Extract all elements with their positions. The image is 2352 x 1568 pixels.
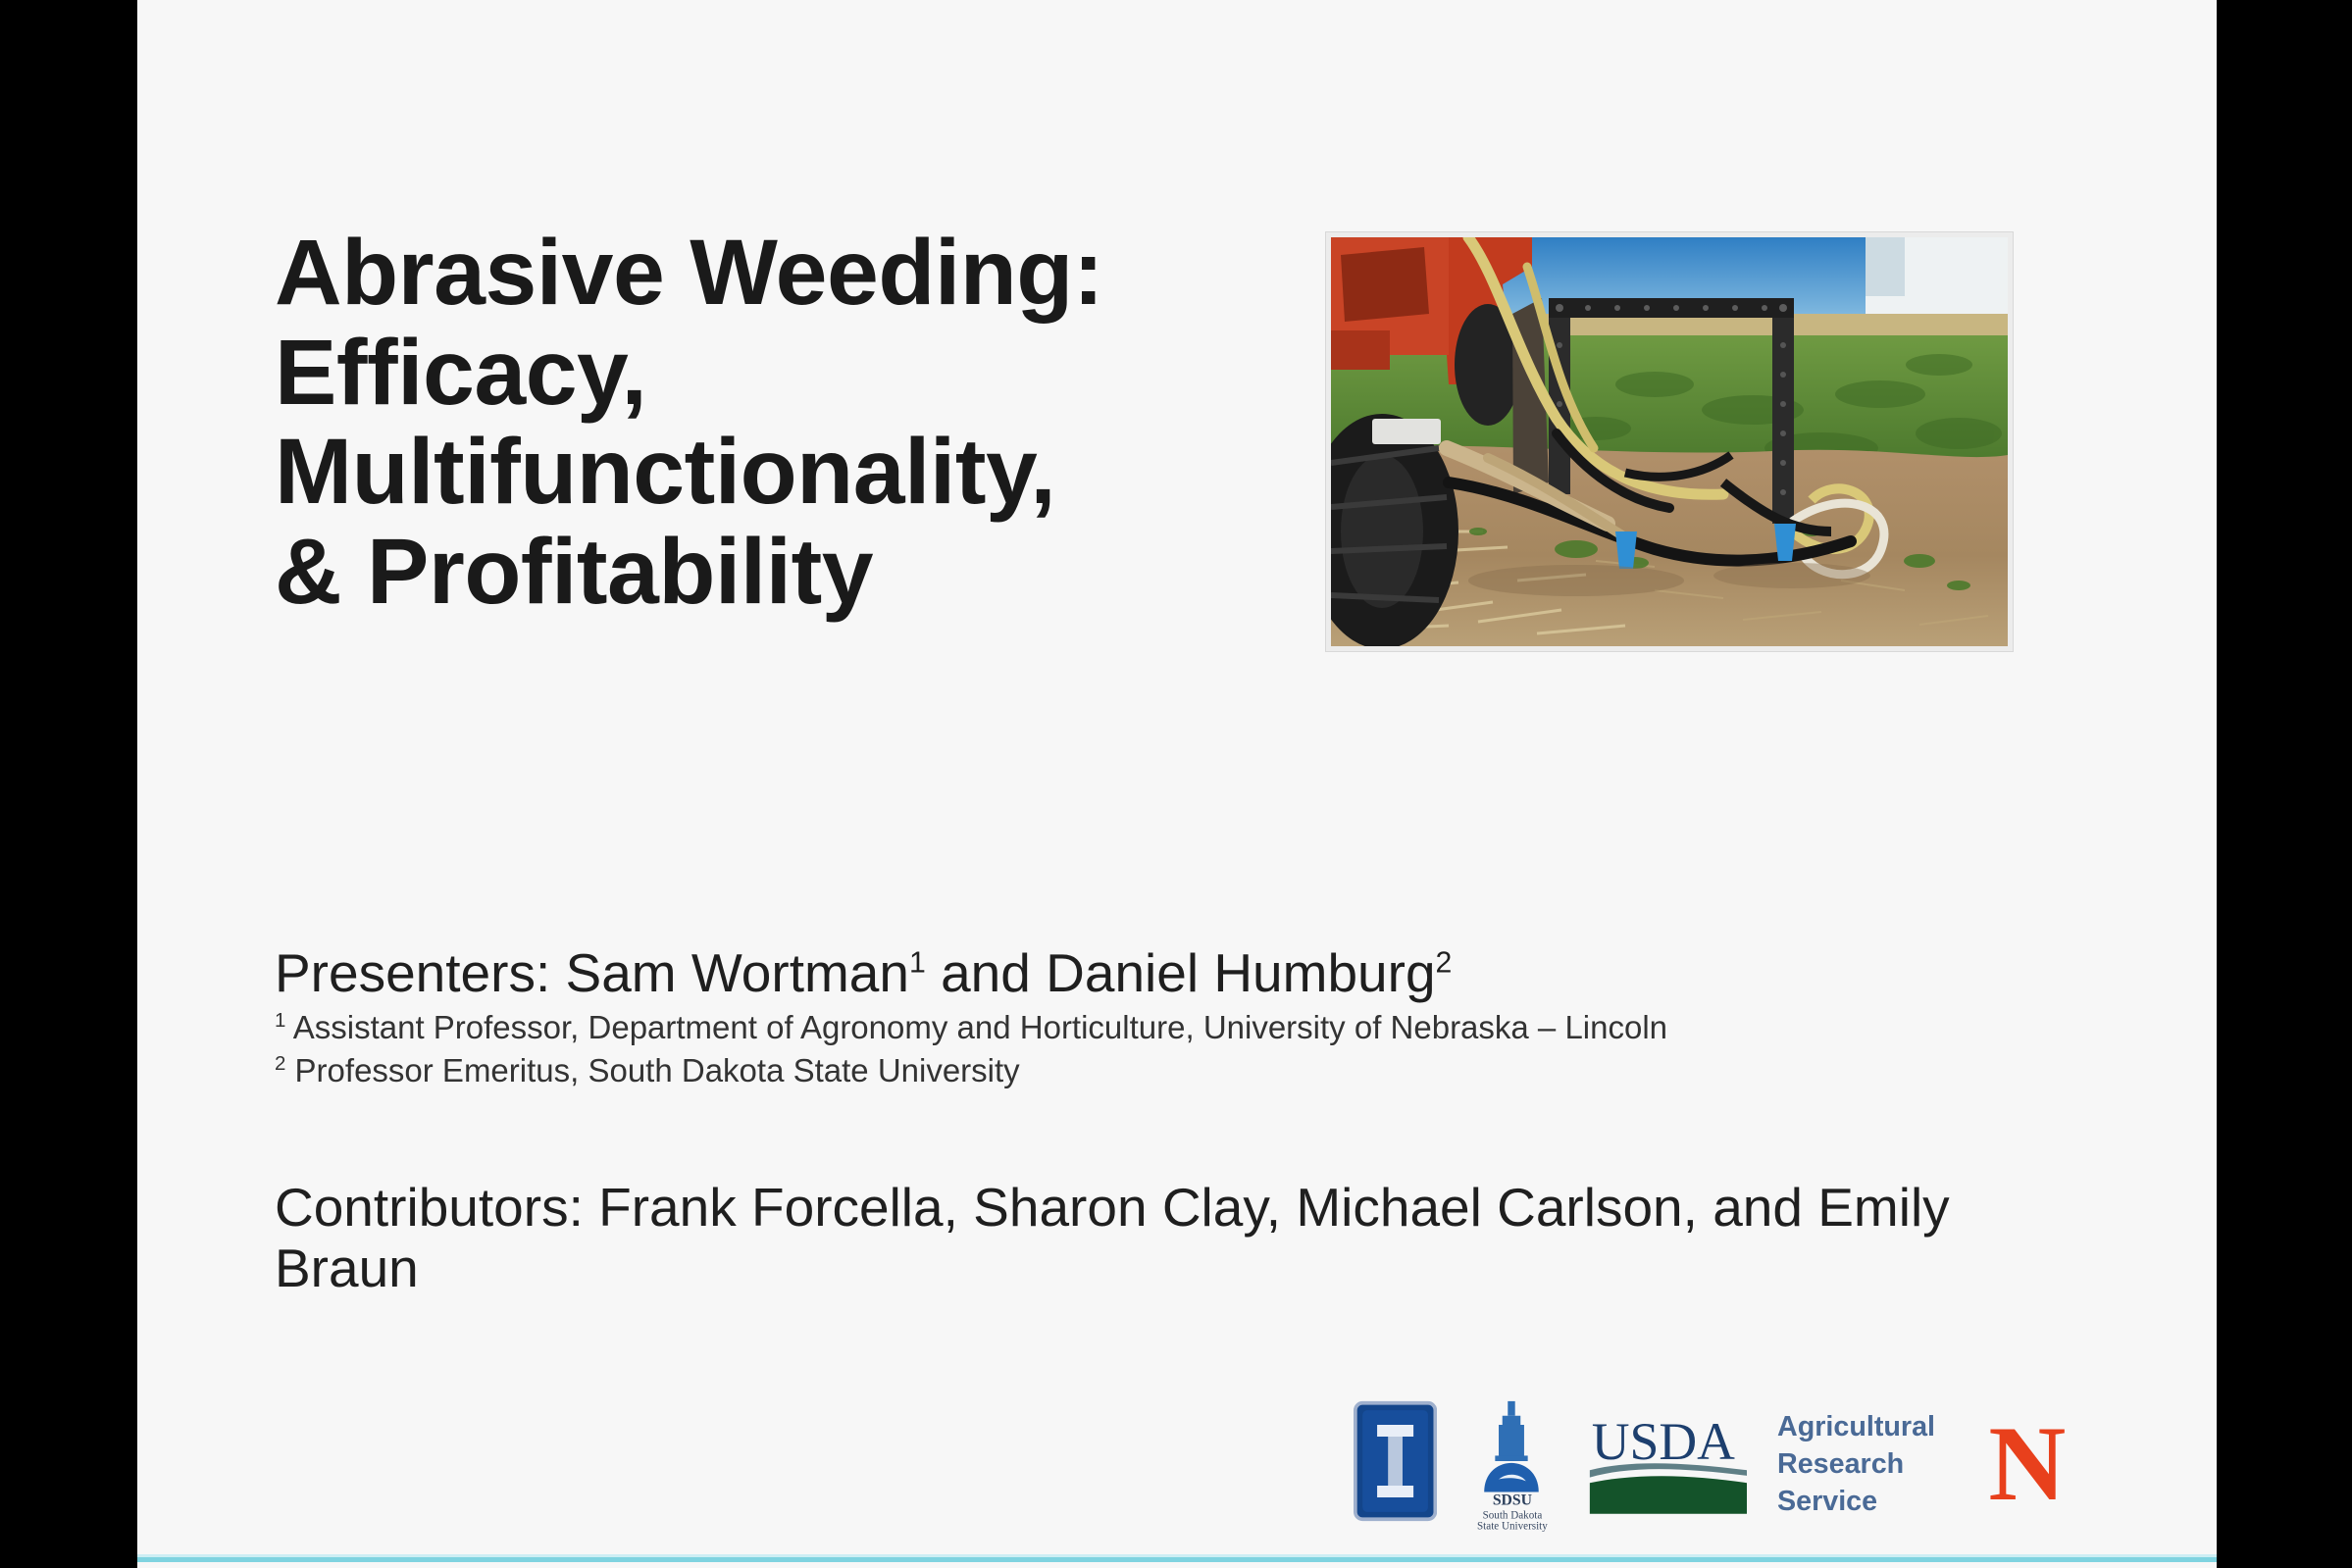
affiliation-2-text: Professor Emeritus, South Dakota State U… [285, 1052, 1019, 1088]
presenters-sup-1: 1 [909, 947, 926, 980]
abrasive-weeding-implement-photo [1326, 232, 2013, 651]
ars-line-2: Research [1777, 1448, 1904, 1480]
sponsor-logo-strip: SDSU South Dakota State University USDA … [1354, 1378, 2079, 1544]
title-line-2: Efficacy, [275, 324, 1314, 424]
svg-text:SDSU: SDSU [1493, 1492, 1532, 1508]
svg-text:USDA: USDA [1592, 1412, 1735, 1471]
slide-accent-line [137, 1557, 2217, 1562]
title-line-4: & Profitability [275, 523, 1314, 623]
ars-line-1: Agricultural [1777, 1411, 1935, 1442]
affiliation-1-text: Assistant Professor, Department of Agron… [285, 1009, 1667, 1045]
ars-line-3: Service [1777, 1486, 1877, 1517]
contributors-text: Contributors: Frank Forcella, Sharon Cla… [275, 1177, 1991, 1298]
presenters-mid: and Daniel Humburg [926, 942, 1436, 1003]
svg-text:N: N [1988, 1404, 2066, 1522]
photo-illustration [1331, 237, 2008, 646]
presenters-line: Presenters: Sam Wortman1 and Daniel Humb… [275, 943, 2138, 1004]
university-of-nebraska-logo: N [1975, 1400, 2079, 1522]
title-line-3: Multifunctionality, [275, 423, 1314, 523]
presentation-slide: Abrasive Weeding: Efficacy, Multifunctio… [137, 0, 2217, 1568]
affiliation-1: 1 Assistant Professor, Department of Agr… [275, 1008, 2138, 1047]
affiliation-1-marker: 1 [275, 1009, 285, 1032]
video-slide-viewer: Abrasive Weeding: Efficacy, Multifunctio… [0, 0, 2352, 1568]
affiliation-2-marker: 2 [275, 1052, 285, 1075]
svg-text:State University: State University [1477, 1520, 1548, 1532]
agricultural-research-service-logo: Agricultural Research Service [1777, 1400, 1950, 1522]
letterbox-bar-right [2217, 0, 2352, 1568]
affiliation-2: 2 Professor Emeritus, South Dakota State… [275, 1051, 2138, 1090]
usda-logo: USDA [1588, 1402, 1752, 1520]
title-line-1: Abrasive Weeding: [275, 224, 1314, 324]
university-of-illinois-logo [1354, 1396, 1437, 1526]
letterbox-bar-left [0, 0, 137, 1568]
presenters-block: Presenters: Sam Wortman1 and Daniel Humb… [275, 943, 2138, 1090]
presenters-label: Presenters: Sam Wortman [275, 942, 909, 1003]
presenters-sup-2: 2 [1436, 947, 1453, 980]
slide-title: Abrasive Weeding: Efficacy, Multifunctio… [275, 224, 1314, 623]
south-dakota-state-university-logo: SDSU South Dakota State University [1462, 1387, 1562, 1536]
